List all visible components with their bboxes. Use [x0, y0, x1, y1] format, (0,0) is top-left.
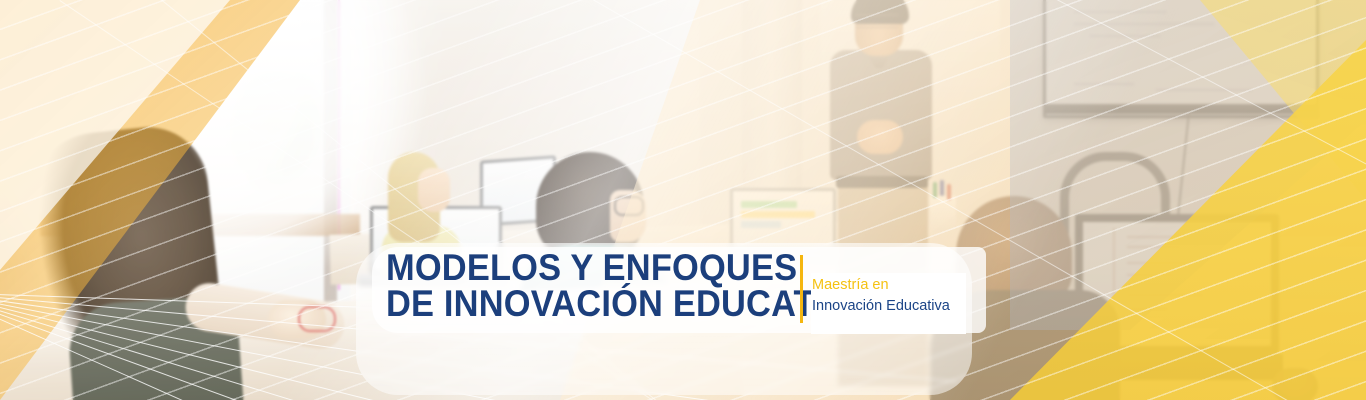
subtitle-line-2: Innovación Educativa: [812, 296, 968, 317]
teacher-belt: [836, 176, 928, 188]
banner-title-line-1: MODELOS Y ENFOQUES: [386, 250, 870, 286]
teacher-shirt: [830, 50, 932, 180]
computer-mouse: [1272, 368, 1318, 400]
teacher-hands: [857, 120, 903, 154]
banner-title: MODELOS Y ENFOQUES DE INNOVACIÓN EDUCATI…: [386, 250, 870, 322]
program-hero-banner: MODELOS Y ENFOQUES DE INNOVACIÓN EDUCATI…: [0, 0, 1366, 400]
student-boy-glasses-icon: [614, 196, 644, 216]
teacher-glasses-icon: [856, 14, 898, 28]
banner-title-line-2: DE INNOVACIÓN EDUCATIVA: [386, 286, 870, 322]
computer-mouse: [298, 306, 336, 332]
vertical-divider: [800, 255, 803, 323]
pen-cup: [930, 196, 956, 230]
subtitle-line-1: Maestría en: [812, 275, 968, 296]
student-blonde-face: [418, 168, 450, 212]
banner-subtitle: Maestría en Innovación Educativa: [812, 275, 968, 317]
wall-display-bezel: [1043, 104, 1319, 114]
wall-display-screen: [1043, 0, 1319, 118]
